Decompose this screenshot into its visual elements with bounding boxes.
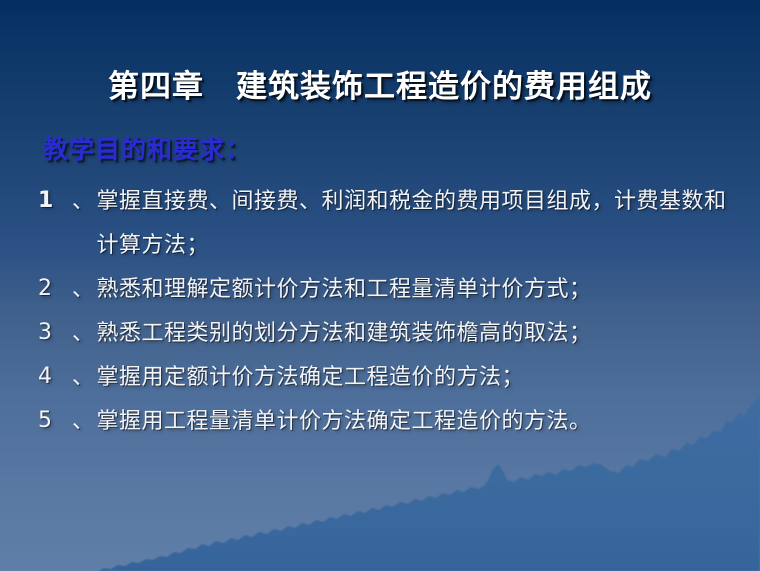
- objective-separator: 、: [72, 179, 95, 223]
- objective-item-3: 3 、 熟悉工程类别的划分方法和建筑装饰檐高的取法；: [38, 311, 728, 355]
- presentation-slide: 第四章 建筑装饰工程造价的费用组成 教学目的和要求： 1 、 掌握直接费、间接费…: [0, 0, 760, 571]
- objective-text: 掌握用定额计价方法确定工程造价的方法；: [97, 355, 728, 399]
- objective-item-4: 4 、 掌握用定额计价方法确定工程造价的方法；: [38, 355, 728, 399]
- objective-separator: 、: [72, 355, 95, 399]
- objective-marker: 2: [38, 267, 72, 311]
- objective-item-1: 1 、 掌握直接费、间接费、利润和税金的费用项目组成，计费基数和计算方法；: [38, 179, 728, 267]
- objective-text: 熟悉和理解定额计价方法和工程量清单计价方式；: [97, 267, 728, 311]
- objective-separator: 、: [72, 311, 95, 355]
- slide-title: 第四章 建筑装饰工程造价的费用组成: [108, 61, 652, 106]
- objective-marker: 5: [38, 399, 72, 443]
- objective-text: 掌握直接费、间接费、利润和税金的费用项目组成，计费基数和计算方法；: [97, 179, 728, 267]
- objective-marker: 4: [38, 355, 72, 399]
- objective-text: 掌握用工程量清单计价方法确定工程造价的方法。: [97, 399, 728, 443]
- objective-marker: 3: [38, 311, 72, 355]
- objectives-heading: 教学目的和要求：: [43, 133, 728, 167]
- objective-item-5: 5 、 掌握用工程量清单计价方法确定工程造价的方法。: [38, 399, 728, 443]
- slide-body: 教学目的和要求： 1 、 掌握直接费、间接费、利润和税金的费用项目组成，计费基数…: [38, 133, 728, 443]
- objective-separator: 、: [72, 267, 95, 311]
- slide-title-block: 第四章 建筑装饰工程造价的费用组成: [0, 40, 760, 127]
- objective-text: 熟悉工程类别的划分方法和建筑装饰檐高的取法；: [97, 311, 728, 355]
- objective-marker: 1: [38, 179, 72, 223]
- objective-item-2: 2 、 熟悉和理解定额计价方法和工程量清单计价方式；: [38, 267, 728, 311]
- objective-separator: 、: [72, 399, 95, 443]
- objectives-list: 1 、 掌握直接费、间接费、利润和税金的费用项目组成，计费基数和计算方法； 2 …: [38, 179, 728, 443]
